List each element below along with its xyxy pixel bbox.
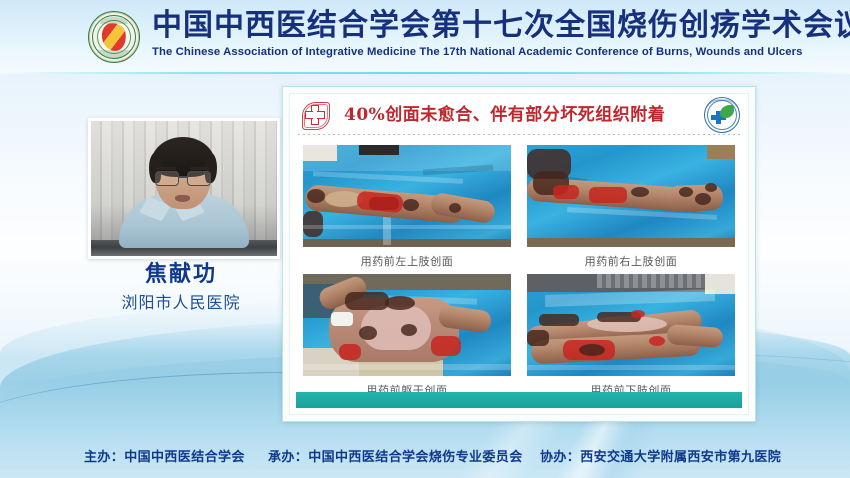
clinical-photo-grid: 用药前左上肢创面 [302, 144, 736, 392]
speaker-glasses [155, 171, 211, 185]
speaker-eyebrow-left [157, 167, 176, 170]
speaker-webcam-feed[interactable] [91, 121, 277, 256]
speaker-info: 焦献功 浏阳市人民医院 [88, 262, 274, 313]
footer-undertaker: 承办：中国中西医结合学会烧伤专业委员会 [268, 446, 523, 465]
header-titles: 中国中西医结合学会第十七次全国烧伤创疡学术会议 The Chinese Asso… [152, 8, 850, 58]
footer-organizer: 主办：中国中西医结合学会 [84, 446, 245, 465]
conference-title-en: The Chinese Association of Integrative M… [152, 46, 850, 58]
conference-header: 中国中西医结合学会第十七次全国烧伤创疡学术会议 The Chinese Asso… [0, 0, 850, 74]
slide-title: 40%创面未愈合、伴有部分坏死组织附着 [344, 102, 665, 128]
cn-integrative-medicine-emblem-icon [88, 11, 140, 63]
header-content: 中国中西医结合学会第十七次全国烧伤创疡学术会议 The Chinese Asso… [88, 8, 850, 63]
photo-cell-left-upper-limb: 用药前左上肢创面 [302, 144, 512, 269]
clinical-photo-lower-limb[interactable] [526, 273, 736, 377]
slide-title-row: 40%创面未愈合、伴有部分坏死组织附着 [290, 94, 748, 136]
speaker-organization: 浏阳市人民医院 [88, 293, 274, 313]
header-divider [0, 72, 850, 74]
photo-cell-lower-limb: 用药前下肢创面 [526, 273, 736, 398]
speaker-name: 焦献功 [88, 262, 274, 288]
photo-cell-trunk: 用药前躯干创面 [302, 273, 512, 398]
presentation-slide[interactable]: 40%创面未愈合、伴有部分坏死组织附着 [282, 86, 756, 422]
photo-cell-right-upper-limb: 用药前右上肢创面 [526, 144, 736, 269]
photo-caption: 用药前右上肢创面 [585, 253, 678, 269]
slide-accent-bar [296, 392, 742, 408]
clinical-photo-left-upper-limb[interactable] [302, 144, 512, 248]
slide-title-underline [298, 134, 740, 135]
conference-footer: 主办：中国中西医结合学会 承办：中国中西医结合学会烧伤专业委员会 协办：西安交通… [0, 434, 850, 478]
speaker-video-panel[interactable] [88, 118, 280, 259]
footer-coorganizer: 协办：西安交通大学附属西安市第九医院 [540, 446, 781, 465]
photo-caption: 用药前左上肢创面 [361, 253, 454, 269]
presentation-stage: 中国中西医结合学会第十七次全国烧伤创疡学术会议 The Chinese Asso… [0, 0, 850, 478]
clinical-photo-trunk[interactable] [302, 273, 512, 377]
speaker-mouth [175, 195, 190, 202]
clinical-photo-right-upper-limb[interactable] [526, 144, 736, 248]
hospital-emblem-icon [704, 97, 740, 133]
slide-content: 40%创面未愈合、伴有部分坏死组织附着 [289, 93, 749, 415]
red-cross-icon [300, 100, 330, 130]
conference-title-cn: 中国中西医结合学会第十七次全国烧伤创疡学术会议 [152, 8, 850, 44]
speaker-eyebrow-right [190, 167, 209, 170]
